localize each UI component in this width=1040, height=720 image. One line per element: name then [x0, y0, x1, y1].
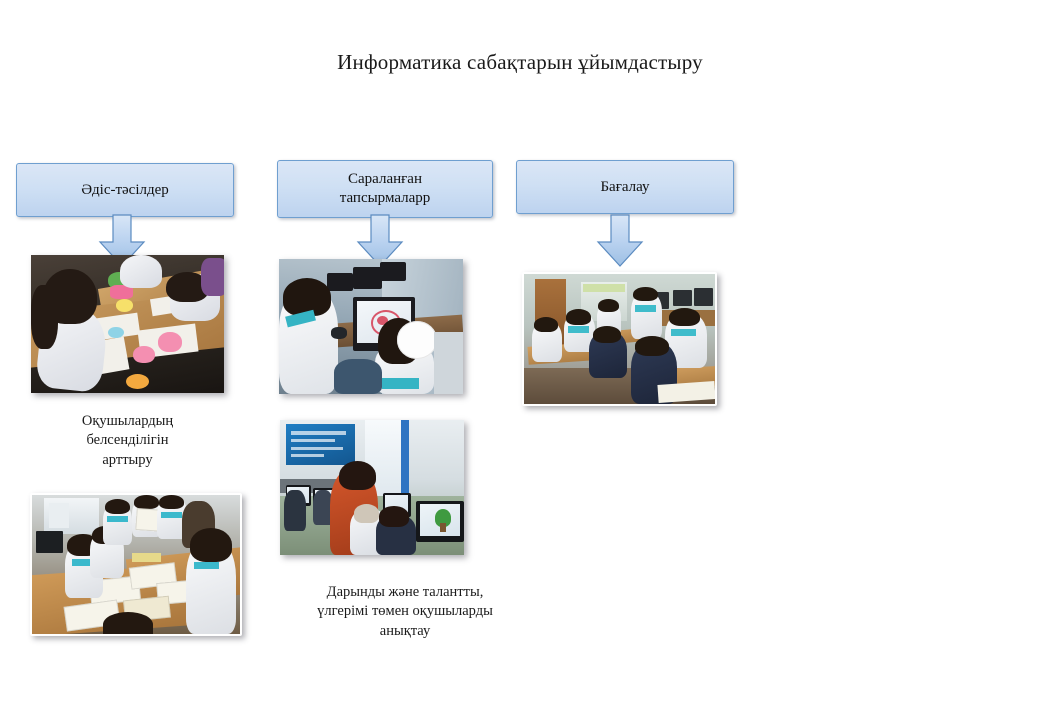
- concept-box-tasks[interactable]: Сараланған тапсырмаларр: [277, 160, 493, 218]
- photo-teacher-helping: [280, 420, 464, 555]
- photo-paper-crafts-scene: [31, 255, 224, 393]
- concept-box-tasks-label-line1: Сараланған: [340, 170, 431, 189]
- photo-paper-crafts: [31, 255, 224, 393]
- photo-classroom-scene: [524, 274, 715, 404]
- caption-student-activity-line3: арттыру: [20, 451, 235, 470]
- caption-student-activity-line2: белсенділігін: [20, 431, 235, 450]
- caption-talent-identification-line3: анықтау: [265, 622, 545, 641]
- caption-talent-identification-line2: үлгерімі төмен оқушыларды: [265, 602, 545, 621]
- down-arrow-icon: [596, 214, 644, 268]
- page-title: Информатика сабақтарын ұйымдастыру: [0, 50, 1040, 75]
- photo-computer-lab: [279, 259, 463, 394]
- slide-canvas: Информатика сабақтарын ұйымдастыру Әдіс-…: [0, 0, 1040, 720]
- concept-box-assessment[interactable]: Бағалау: [516, 160, 734, 214]
- concept-box-methods[interactable]: Әдіс-тәсілдер: [16, 163, 234, 217]
- caption-talent-identification-line1: Дарынды және талантты,: [265, 583, 545, 602]
- concept-box-assessment-label: Бағалау: [600, 178, 649, 197]
- photo-computer-lab-scene: [279, 259, 463, 394]
- concept-box-methods-label: Әдіс-тәсілдер: [81, 181, 169, 200]
- caption-student-activity-line1: Оқушылардың: [20, 412, 235, 431]
- caption-talent-identification: Дарынды және талантты, үлгерімі төмен оқ…: [265, 583, 545, 641]
- caption-student-activity: Оқушылардың белсенділігін арттыру: [20, 412, 235, 470]
- concept-box-tasks-label-line2: тапсырмаларр: [340, 189, 431, 208]
- photo-classroom: [522, 272, 717, 406]
- photo-group-work: [30, 493, 242, 636]
- concept-box-tasks-label: Сараланған тапсырмаларр: [340, 170, 431, 207]
- photo-teacher-helping-scene: [280, 420, 464, 555]
- photo-group-work-scene: [32, 495, 240, 634]
